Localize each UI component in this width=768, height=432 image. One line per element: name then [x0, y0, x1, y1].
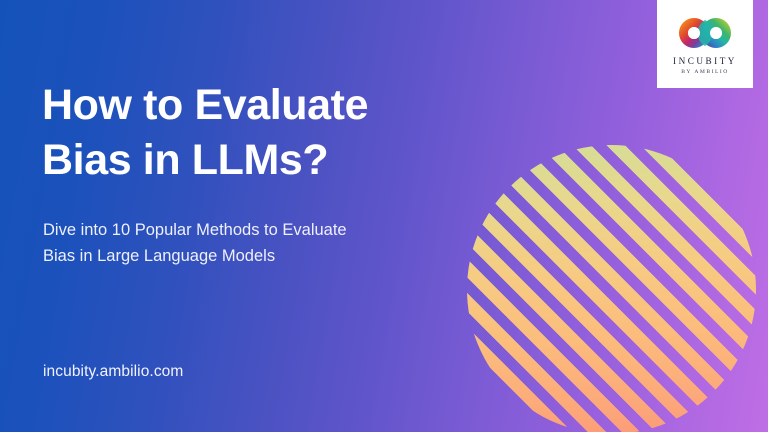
page-subtitle: Dive into 10 Popular Methods to Evaluate… — [43, 218, 443, 269]
page-title: How to Evaluate Bias in LLMs? — [42, 78, 482, 188]
brand-wordmark: INCUBITY — [673, 56, 737, 66]
promo-banner: How to Evaluate Bias in LLMs? Dive into … — [0, 0, 768, 432]
striped-circle-decoration — [467, 145, 756, 432]
site-url-label: incubity.ambilio.com — [43, 363, 183, 381]
brand-logo-card: INCUBITY BY AMBILIO — [657, 0, 753, 88]
brand-subwordmark: BY AMBILIO — [681, 69, 729, 75]
striped-circle-stripes — [467, 145, 756, 432]
infinity-loop-icon — [678, 17, 732, 49]
